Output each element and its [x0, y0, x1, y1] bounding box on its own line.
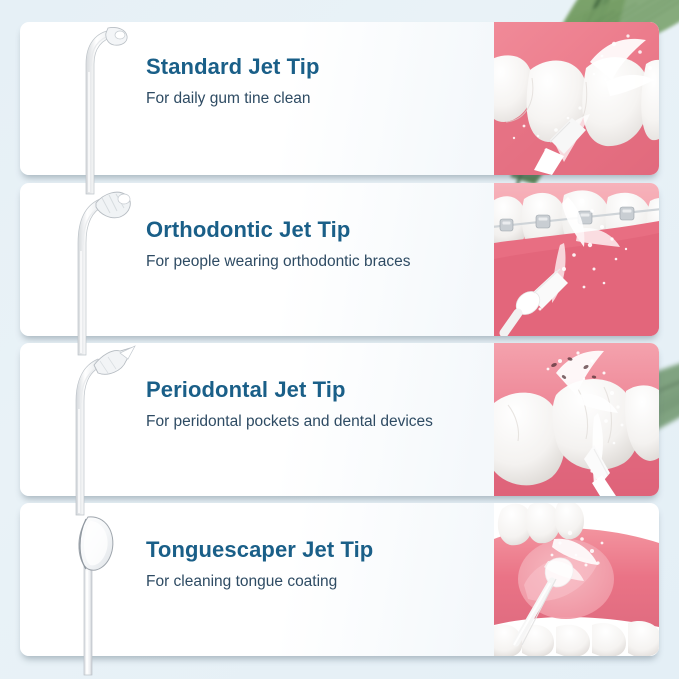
card-text-block: Standard Jet Tip For daily gum tine clea… [146, 54, 496, 109]
periodontal-jet-tip-nozzle-icon [42, 343, 146, 518]
infographic-canvas: Standard Jet Tip For daily gum tine clea… [0, 0, 679, 679]
card-subtitle: For cleaning tongue coating [146, 572, 496, 591]
teeth-gums-water-jet-photo [494, 22, 659, 175]
orthodontic-jet-tip-nozzle-icon [42, 183, 146, 358]
card-subtitle: For daily gum tine clean [146, 89, 496, 108]
card-subtitle: For peridontal pockets and dental device… [146, 412, 496, 431]
page-title: Tonguescaper Jet Tip [146, 537, 496, 563]
standard-jet-tip-nozzle-icon [42, 22, 146, 197]
card-text-block: Orthodontic Jet Tip For people wearing o… [146, 217, 496, 272]
tonguescraper-jet-tip-nozzle-icon [42, 503, 146, 678]
page-title: Periodontal Jet Tip [146, 377, 496, 403]
molars-gumline-water-jet-photo [494, 343, 659, 496]
page-title: Orthodontic Jet Tip [146, 217, 496, 243]
product-card-tonguescaper-jet-tip[interactable]: Tonguescaper Jet Tip For cleaning tongue… [20, 503, 659, 656]
card-text-block: Tonguescaper Jet Tip For cleaning tongue… [146, 537, 496, 592]
card-subtitle: For people wearing orthodontic braces [146, 252, 496, 271]
tongue-scraper-water-jet-photo [494, 503, 659, 656]
card-text-block: Periodontal Jet Tip For peridontal pocke… [146, 377, 496, 432]
product-card-orthodontic-jet-tip[interactable]: Orthodontic Jet Tip For people wearing o… [20, 183, 659, 336]
page-title: Standard Jet Tip [146, 54, 496, 80]
product-card-standard-jet-tip[interactable]: Standard Jet Tip For daily gum tine clea… [20, 22, 659, 175]
product-card-periodontal-jet-tip[interactable]: Periodontal Jet Tip For peridontal pocke… [20, 343, 659, 496]
braces-brackets-water-jet-photo [494, 183, 659, 336]
